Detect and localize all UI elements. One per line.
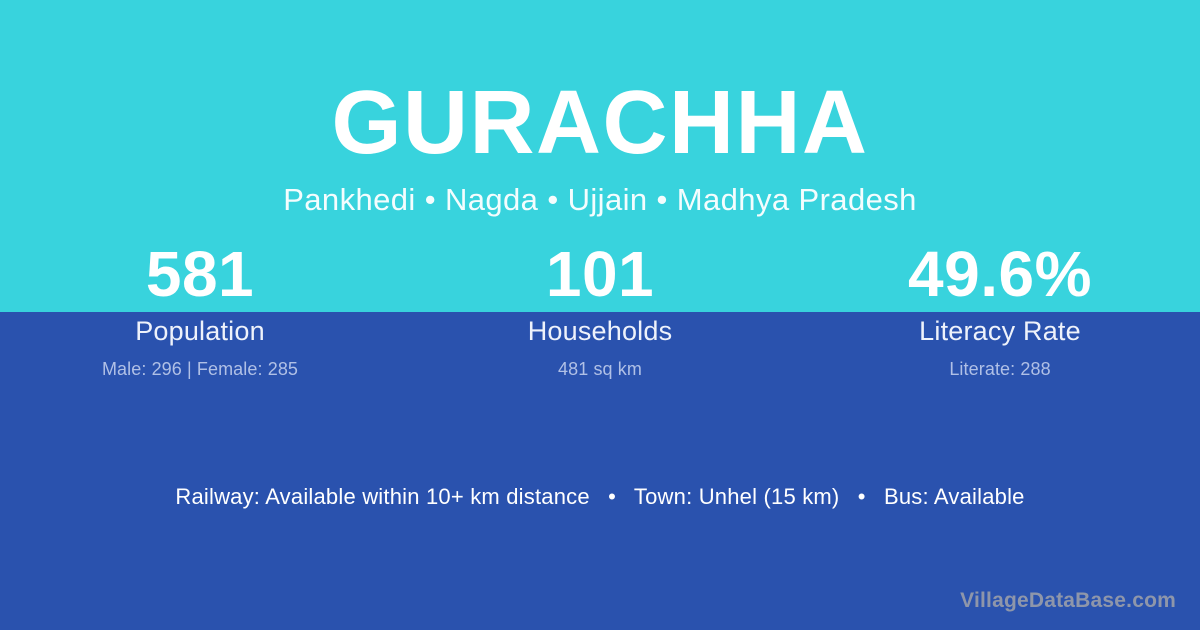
population-breakdown: Male: 296 | Female: 285 [0,359,400,380]
nearest-town-info: Town: Unhel (15 km) [634,484,840,509]
bus-info: Bus: Available [884,484,1025,509]
literacy-rate-label: Literacy Rate [800,316,1200,347]
households-label: Households [400,316,800,347]
population-label: Population [0,316,400,347]
area-value: 481 sq km [400,359,800,380]
amenity-separator-1: • [596,484,628,510]
site-watermark: VillageDataBase.com [960,589,1176,613]
population-value: 581 [0,240,400,312]
railway-info: Railway: Available within 10+ km distanc… [175,484,589,509]
households-value: 101 [400,240,800,312]
breadcrumb: Pankhedi • Nagda • Ujjain • Madhya Prade… [0,182,1200,218]
stat-block-households: 101 Households 481 sq km [400,240,800,380]
literate-count: Literate: 288 [800,359,1200,380]
amenity-separator-2: • [846,484,878,510]
stats-row: 581 Population Male: 296 | Female: 285 1… [0,240,1200,380]
page-title: GURACHHA [0,78,1200,170]
amenities-summary: Railway: Available within 10+ km distanc… [0,484,1200,510]
card-header: GURACHHA Pankhedi • Nagda • Ujjain • Mad… [0,0,1200,218]
literacy-rate-value: 49.6% [800,240,1200,312]
stat-block-literacy: 49.6% Literacy Rate Literate: 288 [800,240,1200,380]
village-info-card: GURACHHA Pankhedi • Nagda • Ujjain • Mad… [0,0,1200,630]
stat-block-population: 581 Population Male: 296 | Female: 285 [0,240,400,380]
